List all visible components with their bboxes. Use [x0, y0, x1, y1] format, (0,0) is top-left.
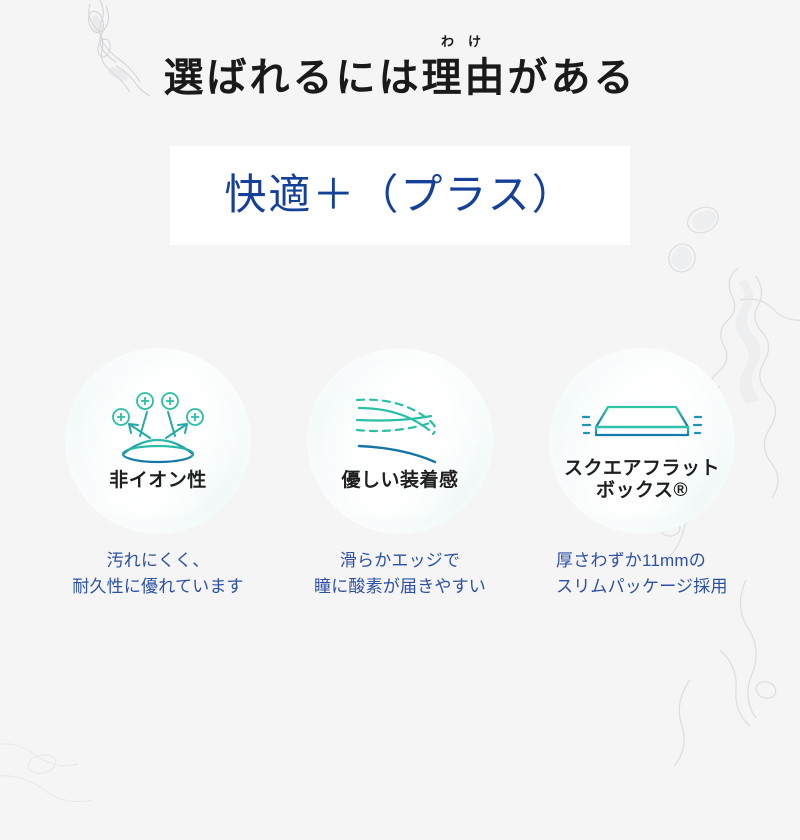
feature-title: スクエアフラット ボックス®: [564, 458, 720, 503]
feature-title: 優しい装着感: [341, 470, 458, 492]
feature-square-flat-box: スクエアフラット ボックス® 厚さわずか11mmの スリムパッケージ採用: [542, 348, 742, 599]
water-splash-bottom-left: [0, 660, 190, 840]
feature-caption: 滑らかエッジで 瞳に酸素が届きやすい: [300, 548, 500, 599]
feature-caption: 厚さわずか11mmの スリムパッケージ採用: [542, 548, 742, 599]
headline-part1: 選ばれるには: [164, 55, 422, 100]
headline-container: 選ばれるにはわけ理由がある: [0, 58, 800, 98]
non-ionic-lens-icon: [102, 390, 214, 464]
smooth-edge-icon: [344, 390, 456, 464]
feature-non-ionic: 非イオン性 汚れにくく、 耐久性に優れています: [58, 348, 258, 599]
feature-list: 非イオン性 汚れにくく、 耐久性に優れています 優しい装着感 滑らかエッジで 瞳…: [0, 348, 800, 599]
icon-slot: [102, 390, 214, 464]
icon-slot: [344, 390, 456, 464]
subtitle-text: 快適＋（プラス）: [224, 175, 575, 217]
feature-title: 非イオン性: [109, 470, 207, 492]
page-title: 選ばれるにはわけ理由がある: [164, 58, 637, 98]
feature-bubble: 非イオン性: [65, 348, 251, 534]
feature-bubble: スクエアフラット ボックス®: [549, 348, 735, 534]
square-flat-box-icon: [580, 385, 704, 449]
ruby-group: わけ理由: [422, 58, 508, 98]
headline-part2: がある: [508, 55, 637, 100]
feature-caption: 汚れにくく、 耐久性に優れています: [58, 548, 258, 599]
subtitle-panel: 快適＋（プラス）: [170, 146, 630, 245]
furigana: わけ: [422, 35, 508, 48]
feature-smooth-edge: 優しい装着感 滑らかエッジで 瞳に酸素が届きやすい: [300, 348, 500, 599]
icon-slot: [580, 380, 704, 454]
feature-bubble: 優しい装着感: [307, 348, 493, 534]
ruby-base: 理由: [422, 55, 508, 100]
